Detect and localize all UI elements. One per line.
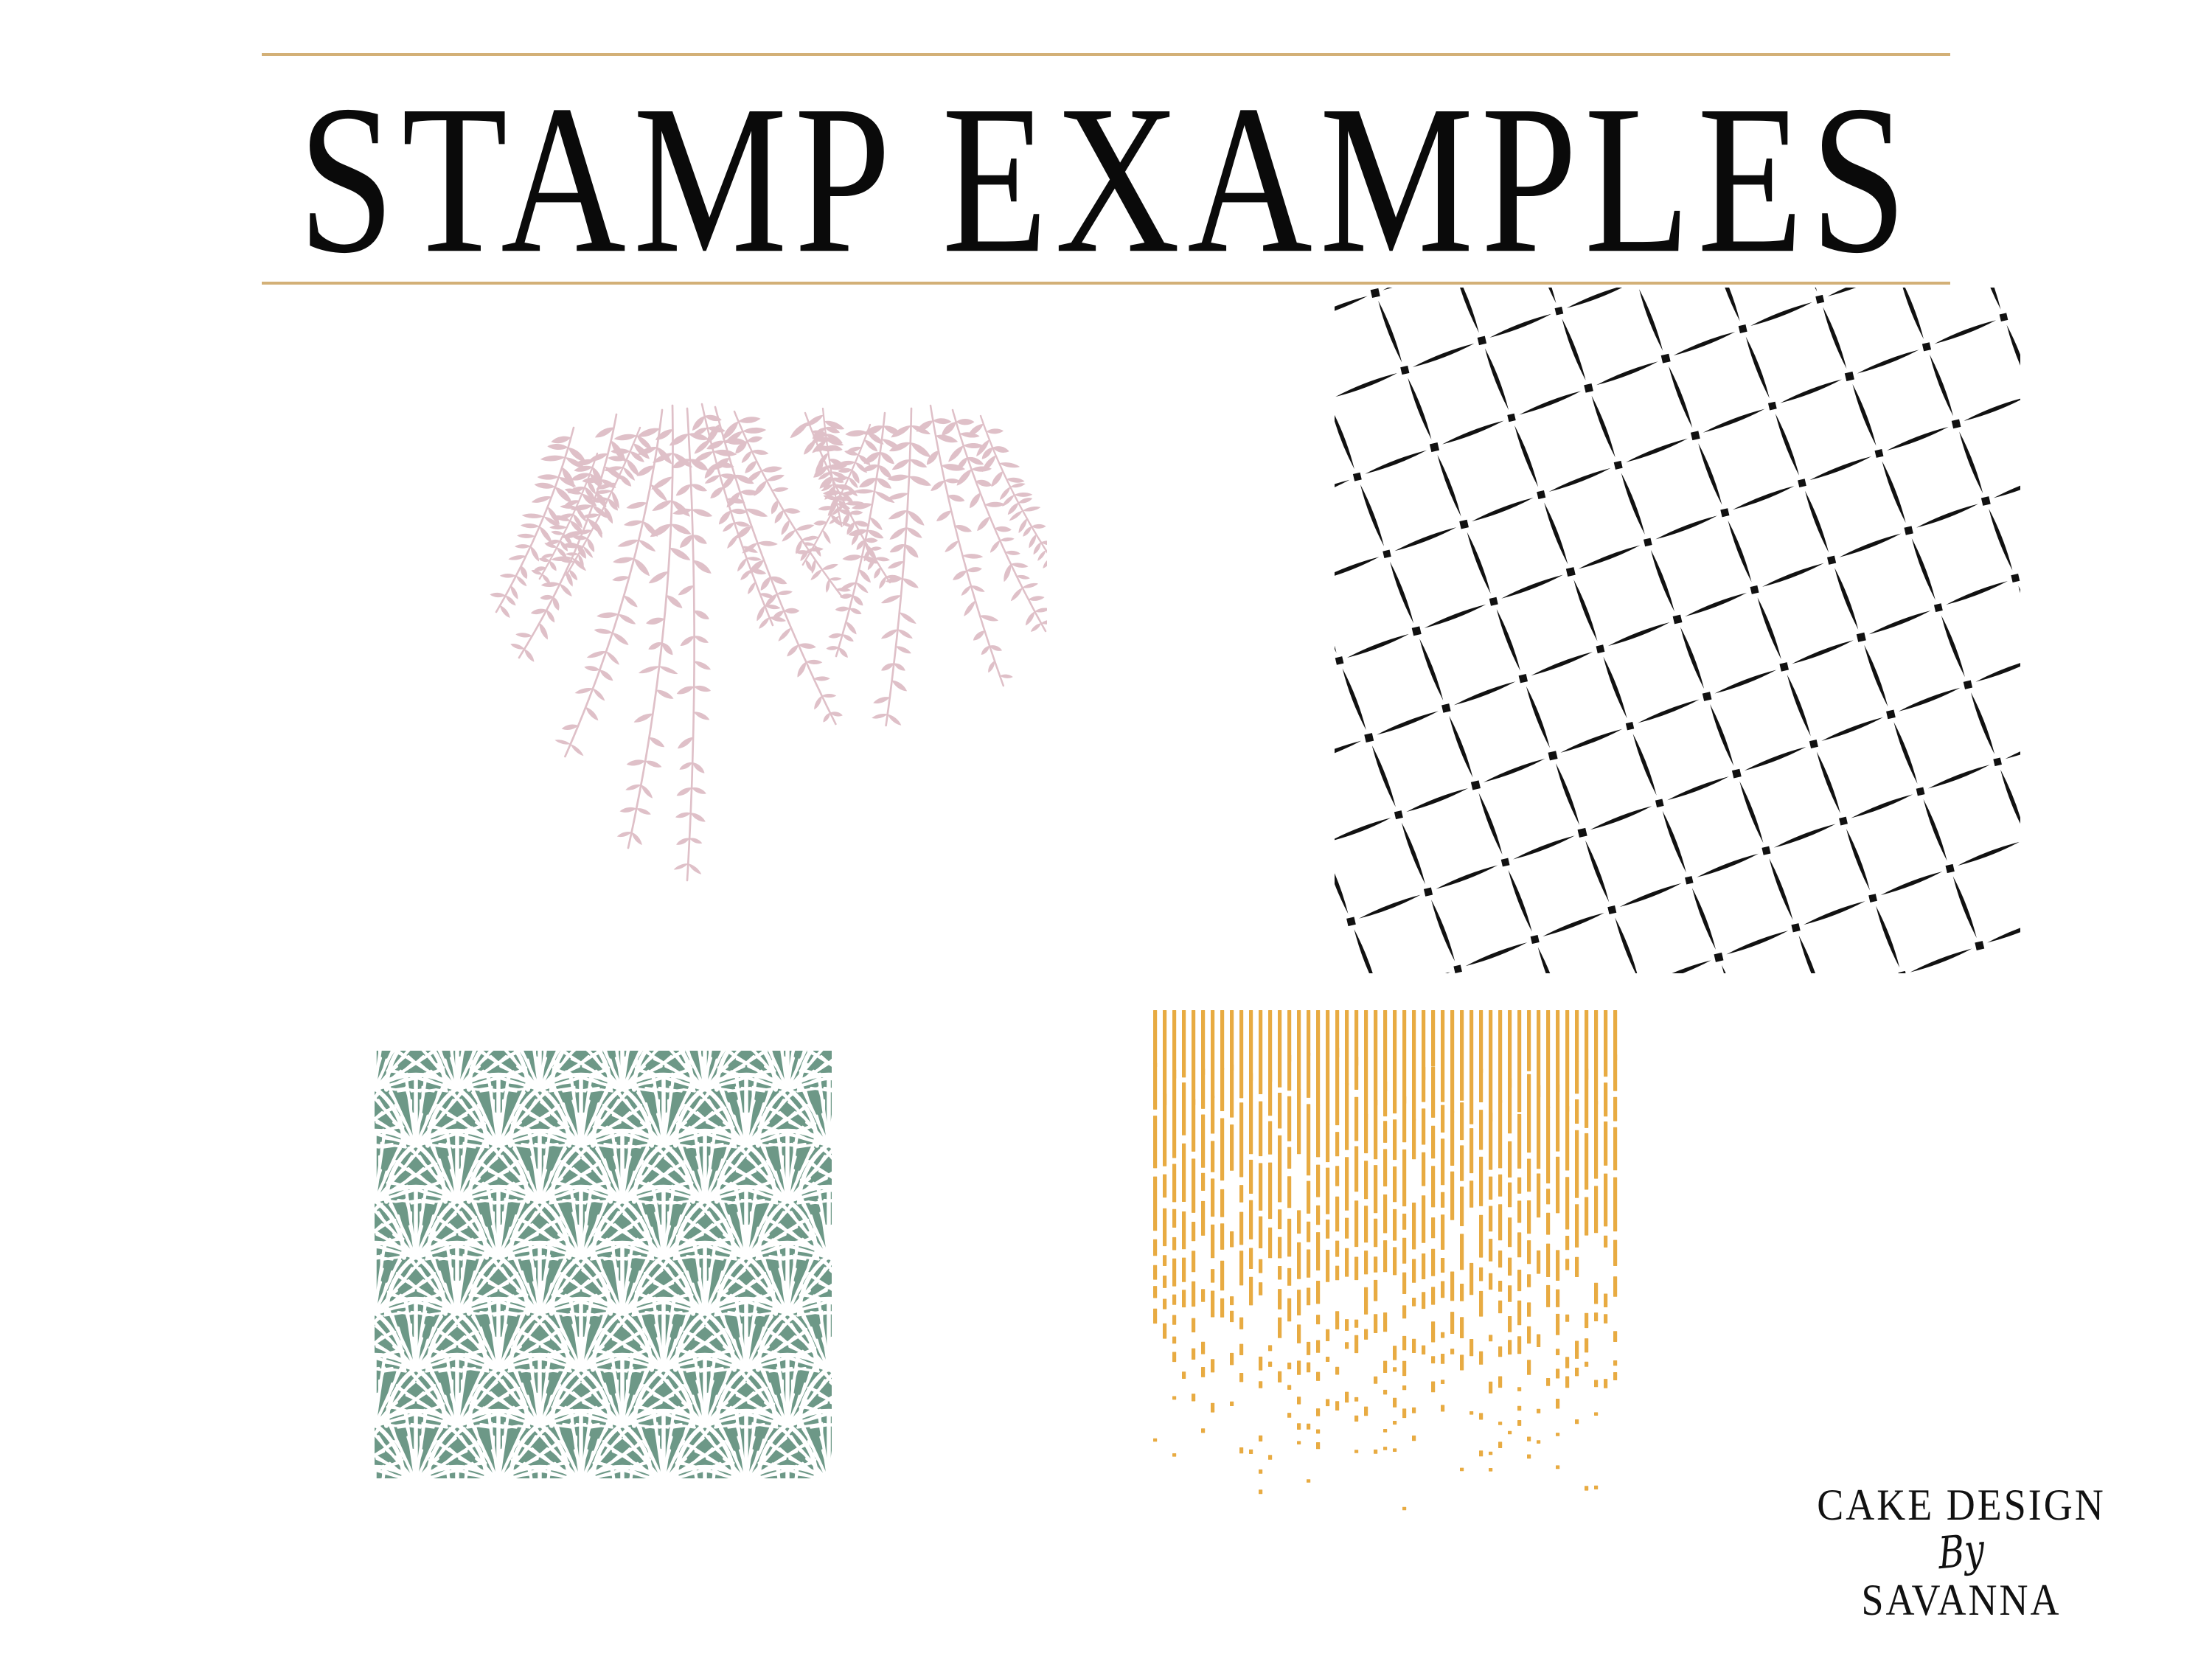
gold-dash-segment <box>1182 1258 1186 1282</box>
lattice-dash <box>1453 288 1481 333</box>
willow-leaf <box>721 521 735 533</box>
willow-leaf <box>632 557 652 578</box>
lattice-dash <box>1394 526 1458 553</box>
lattice-rotation-group <box>1335 288 2020 973</box>
gold-dash-segment <box>1307 1342 1310 1355</box>
gold-dash-segment <box>1613 1240 1617 1266</box>
lattice-node-dot <box>1750 585 1759 594</box>
gold-dash-segment <box>1517 1387 1521 1391</box>
willow-leaf <box>814 676 830 681</box>
lattice-dash <box>1957 840 2020 867</box>
gold-dash-segment <box>1393 1119 1397 1160</box>
gold-dash-segment <box>1565 1236 1569 1250</box>
willow-leaf <box>806 659 822 664</box>
gold-dash-segment <box>1565 1259 1569 1270</box>
gold-dash-segment <box>1546 1213 1550 1235</box>
gold-dash-segment <box>1613 1097 1617 1121</box>
gold-dash-segment <box>1546 1010 1550 1108</box>
gold-dash-segment <box>1316 1165 1320 1197</box>
gold-dash-segment <box>1268 1228 1272 1259</box>
lattice-dash <box>1898 686 1961 713</box>
gold-dash-segment <box>1278 1135 1281 1203</box>
gold-dash-segment <box>1259 1259 1262 1273</box>
lattice-node-dot <box>1614 461 1623 470</box>
lattice-dash <box>1791 639 1854 666</box>
lattice-node-dot <box>1952 420 1961 429</box>
gold-dash-segment <box>1354 1450 1358 1453</box>
gold-dash-segment <box>1201 1010 1205 1075</box>
gold-dash-segment <box>1259 1436 1262 1441</box>
gold-dash-segment <box>1565 1357 1569 1368</box>
willow-leaf <box>784 608 799 613</box>
lattice-dash <box>1607 620 1671 647</box>
gold-dash-segment <box>1249 1010 1253 1081</box>
willow-leaf <box>584 664 600 672</box>
lattice-dash <box>1939 615 1966 678</box>
gold-dash-segment <box>1374 1165 1377 1213</box>
gold-dash-segment <box>1172 1070 1176 1158</box>
willow-leaf <box>822 694 837 698</box>
gold-dash-segment <box>1508 1340 1512 1354</box>
lattice-node-dot <box>1364 733 1374 742</box>
willow-leaf <box>878 450 896 467</box>
gold-dash-segment <box>1441 1105 1444 1133</box>
gold-dash-segment <box>1402 1305 1406 1318</box>
lattice-dash <box>1566 288 1630 310</box>
gold-dash-segment <box>1374 1219 1377 1247</box>
gold-dash-segment <box>1316 1232 1320 1270</box>
gold-dash-segment <box>1287 1176 1291 1208</box>
gold-dash-segment <box>1192 1394 1195 1401</box>
lattice-node-dot <box>1922 342 1931 351</box>
lattice-dash <box>1436 863 1499 891</box>
gold-dash-segment <box>1316 1010 1320 1106</box>
lattice-dash <box>1530 650 1593 678</box>
gold-dash-segment <box>1192 1158 1195 1213</box>
gold-dash-segment <box>1479 1110 1483 1150</box>
gold-dash-segment <box>1201 1173 1205 1191</box>
gold-dash-segment <box>1220 1298 1224 1318</box>
lattice-node-dot <box>1471 780 1481 790</box>
gold-dash-segment <box>1575 1368 1579 1377</box>
gold-dash-segment <box>1354 1200 1358 1247</box>
willow-leaf <box>669 498 692 518</box>
gold-dash-segment <box>1527 1302 1531 1316</box>
lattice-dash <box>1335 739 1362 766</box>
gold-dash-segment <box>1479 1157 1483 1206</box>
lattice-dash <box>1453 680 1517 707</box>
lattice-dash <box>1725 929 1789 956</box>
gold-dash-segment <box>1594 1312 1598 1321</box>
gold-dash-segment <box>1412 1298 1416 1307</box>
gold-dash-segment <box>1479 1291 1483 1317</box>
gold-dash-segment <box>1364 1161 1368 1199</box>
gold-dash-segment <box>1307 1222 1310 1242</box>
gold-dash-segment <box>1517 1301 1521 1325</box>
gold-dash-segment <box>1220 1261 1224 1290</box>
willow-leaf <box>598 668 614 683</box>
willow-leaf <box>788 420 810 440</box>
gold-dash-segment <box>1153 1239 1157 1256</box>
gold-dash-segment <box>1546 1189 1550 1204</box>
lattice-dash <box>1779 378 1843 405</box>
lattice-dash <box>1809 454 1872 481</box>
willow-branches-graphic <box>472 383 1047 914</box>
gold-dash-segment <box>1460 1284 1464 1301</box>
gold-dash-segment <box>1556 1085 1559 1152</box>
gold-dash-segment <box>1345 1342 1349 1349</box>
gold-dash-segment <box>1297 1423 1301 1430</box>
lattice-dash <box>1619 881 1683 908</box>
header-rule-top <box>262 53 1950 56</box>
willow-leaf <box>692 557 714 576</box>
willow-leaf <box>689 811 706 824</box>
willow-leaf <box>742 427 766 434</box>
willow-leaf <box>826 645 838 650</box>
gold-dash-segment <box>1249 1248 1253 1270</box>
gold-dash-segment <box>1259 1010 1262 1094</box>
gold-dash-segment <box>1489 1452 1492 1455</box>
page-title: STAMP EXAMPLES <box>44 71 2168 297</box>
lattice-dash <box>1696 852 1759 879</box>
lattice-dash <box>1975 656 2020 684</box>
willow-stem <box>687 408 695 880</box>
willow-leaf <box>1022 505 1040 512</box>
lattice-dash <box>1803 900 1866 927</box>
gold-dash-segment <box>1422 1108 1425 1144</box>
gold-dash-segment <box>1470 1339 1473 1356</box>
gold-dash-segment <box>1374 1256 1377 1273</box>
lattice-dash <box>1857 348 1920 375</box>
gold-dash-segment <box>1508 1078 1512 1133</box>
willow-leaf <box>986 428 1004 434</box>
lattice-dash <box>1773 822 1837 849</box>
willow-leaf <box>594 627 613 635</box>
willow-leaf <box>626 500 648 510</box>
willow-leaf <box>647 569 670 586</box>
gold-dash-segment <box>1220 1119 1224 1181</box>
gold-dash-segment <box>1172 1295 1176 1305</box>
gold-dash-segment <box>1354 1257 1358 1281</box>
gold-dash-segment <box>1354 1097 1358 1141</box>
willow-leaf <box>1022 582 1039 590</box>
lattice-node-dot <box>1768 402 1777 411</box>
gold-dash-segment <box>1192 1281 1195 1307</box>
gold-dash-segment <box>1470 1128 1473 1173</box>
lattice-dash <box>1969 692 1996 755</box>
lattice-dash <box>1424 602 1487 630</box>
lattice-dash <box>1441 419 1505 446</box>
willow-leaf <box>591 687 606 703</box>
gold-dash-segment <box>1575 1061 1579 1094</box>
gold-dash-segment <box>1211 1010 1214 1099</box>
gold-dash-segment <box>1489 1206 1492 1232</box>
willow-leaf <box>1009 586 1024 602</box>
lattice-dash <box>1500 573 1564 600</box>
gold-dash-segment <box>1470 1263 1473 1295</box>
gold-dash-segment <box>1374 1100 1377 1160</box>
lattice-dash <box>1412 341 1475 369</box>
lattice-dash <box>1767 858 1795 921</box>
willow-leaf <box>858 568 873 585</box>
lattice-dash <box>1933 319 1997 346</box>
gold-dash-segment <box>1527 1455 1531 1459</box>
gold-dash-segment <box>1211 1141 1214 1172</box>
gold-dash-segment <box>1268 1345 1272 1351</box>
gold-dash-segment <box>1211 1225 1214 1259</box>
lattice-dash <box>1844 828 1871 891</box>
lattice-node-dot <box>2011 574 2020 582</box>
gold-dash-segment <box>1575 1204 1579 1248</box>
lattice-node-dot <box>1739 324 1747 333</box>
willow-leaf <box>933 418 952 425</box>
gold-dash-segment <box>1565 1377 1569 1388</box>
lattice-dash <box>1358 893 1422 920</box>
stamp-sample-fans <box>375 1051 832 1478</box>
gold-dash-segment <box>1326 1399 1329 1407</box>
gold-dash-segment <box>1402 1408 1406 1418</box>
lattice-node-dot <box>1478 336 1486 345</box>
gold-dash-segment <box>1412 1119 1416 1159</box>
gold-dash-segment <box>1613 1127 1617 1171</box>
lattice-node-dot <box>1886 709 1896 719</box>
lattice-node-dot <box>1507 414 1515 422</box>
willow-leaf <box>956 419 975 425</box>
gold-dash-segment <box>1575 1341 1579 1359</box>
gold-dash-segment <box>1172 1209 1176 1228</box>
gold-dash-segment <box>1163 1255 1166 1266</box>
willow-leaf <box>611 630 630 647</box>
willow-leaf <box>746 435 763 444</box>
gold-dash-segment <box>1546 1378 1550 1386</box>
gold-dash-segment <box>1527 1010 1531 1071</box>
lattice-node-dot <box>1673 615 1683 625</box>
gold-dash-segment <box>1383 1082 1387 1117</box>
lattice-dash <box>1880 869 1944 897</box>
willow-leaf <box>795 523 815 532</box>
gold-dash-segment <box>1259 1282 1262 1295</box>
willow-leaf <box>515 632 532 638</box>
lattice-dash <box>1714 288 1742 322</box>
lattice-dash <box>1874 905 1902 969</box>
gold-dash-segment <box>1527 1326 1531 1343</box>
lattice-dash <box>1738 781 1765 844</box>
gold-dash-segment <box>1383 1149 1387 1186</box>
gold-dash-segment <box>1316 1430 1320 1434</box>
gold-dash-segment <box>1585 1486 1588 1490</box>
gold-dash-segment <box>1335 1132 1339 1156</box>
gold-dash-segment <box>1287 1268 1291 1286</box>
lattice-dash <box>1714 668 1778 695</box>
lattice-node-dot <box>1555 307 1564 316</box>
gold-dash-segment <box>1153 1286 1157 1298</box>
gold-dash-segment <box>1239 1318 1243 1329</box>
lattice-dash <box>1376 709 1439 737</box>
gold-dash-segment <box>1508 1285 1512 1302</box>
gold-dash-segment <box>1565 1106 1569 1171</box>
gold-dash-segment <box>1307 1053 1310 1098</box>
gold-dash-segment <box>1201 1367 1205 1377</box>
gold-dash-segment <box>1450 1312 1454 1334</box>
gold-dash-segment <box>1383 1447 1387 1450</box>
lattice-dash <box>1666 775 1730 802</box>
gold-dash-segment <box>1307 1363 1310 1373</box>
gold-dash-segment <box>1211 1269 1214 1283</box>
lattice-dash <box>1590 804 1653 832</box>
gold-dash-segment <box>1537 1440 1540 1444</box>
gold-dash-segment <box>1460 1102 1464 1140</box>
gold-dash-segment <box>1182 1371 1186 1379</box>
gold-dash-segment <box>1316 1105 1320 1158</box>
gold-dash-segment <box>1460 1010 1464 1101</box>
gold-dash-segment <box>1354 1335 1358 1353</box>
gold-dash-segment <box>1537 1010 1540 1097</box>
gold-dash-segment <box>1182 1290 1186 1307</box>
willow-leaf <box>740 450 753 465</box>
lattice-node-dot <box>1703 692 1712 701</box>
gold-dash-segment <box>1498 1346 1502 1357</box>
lattice-node-dot <box>1981 496 1991 506</box>
lattice-node-dot <box>1975 941 1984 950</box>
gold-dash-segment <box>1239 1251 1243 1285</box>
lattice-node-dot <box>1720 508 1729 517</box>
stamp-sample-willow <box>472 383 1047 914</box>
lattice-node-dot <box>1441 703 1451 713</box>
gold-dash-segment <box>1297 1089 1301 1155</box>
lattice-dash <box>1708 703 1736 767</box>
gold-dash-segment <box>1479 1267 1483 1281</box>
lattice-dash <box>1697 442 1724 506</box>
gold-dash-segment <box>1460 1354 1464 1370</box>
willow-leaf <box>655 688 675 701</box>
lattice-node-dot <box>1868 894 1877 902</box>
lattice-dash <box>1489 312 1552 339</box>
willow-leaf <box>644 759 663 770</box>
gold-dash-segment <box>1431 1249 1435 1276</box>
gold-dash-segment <box>1259 1489 1262 1494</box>
willow-leaf <box>636 807 652 817</box>
willow-leaf <box>887 508 908 522</box>
gold-dash-segment <box>1604 1314 1607 1324</box>
gold-dash-segment <box>1393 1166 1397 1202</box>
gold-dash-segment <box>1441 1380 1444 1384</box>
gold-dash-segment <box>1402 1385 1406 1390</box>
willow-leaf <box>853 489 874 494</box>
gold-dash-segment <box>1230 1065 1234 1118</box>
willow-leaf <box>679 634 696 648</box>
willow-leaf <box>1015 493 1033 497</box>
gold-dash-segment <box>1374 1450 1377 1454</box>
lattice-node-dot <box>1761 846 1770 855</box>
gold-dash-segment <box>1594 1186 1598 1233</box>
gold-dash-segment <box>1307 1010 1310 1056</box>
willow-leaf <box>690 482 709 494</box>
lattice-node-dot <box>1661 354 1671 364</box>
gold-dash-segment <box>1460 1317 1464 1338</box>
gold-dash-segment <box>1450 1272 1454 1301</box>
lattice-dash <box>1584 840 1611 903</box>
gold-dash-segment <box>1431 1382 1435 1393</box>
gold-dash-segment <box>1239 1102 1243 1177</box>
willow-leaf <box>772 487 789 493</box>
lattice-node-dot <box>1857 633 1866 642</box>
gold-dash-segment <box>1345 1010 1349 1085</box>
lattice-node-dot <box>1424 888 1433 897</box>
gold-dash-segment <box>1498 1100 1502 1169</box>
gold-dash-segment <box>1230 1231 1234 1248</box>
gold-dash-segment <box>1613 1054 1617 1091</box>
gold-dash-segment <box>1402 1273 1406 1294</box>
lattice-dash <box>1785 674 1812 737</box>
lattice-dash <box>1851 383 1878 447</box>
gold-dash-segment <box>1575 1010 1579 1062</box>
gold-dash-segment <box>1278 1266 1281 1280</box>
lattice-dash <box>1418 638 1445 701</box>
gold-dash-segment <box>1316 1372 1320 1381</box>
lattice-node-dot <box>1607 905 1616 914</box>
gold-dash-segment <box>1613 1276 1617 1297</box>
willow-leaf <box>905 525 923 540</box>
gold-dash-segment <box>1287 1385 1291 1390</box>
lattice-dash <box>1803 490 1830 554</box>
willow-leaf <box>584 706 600 723</box>
willow-leaf <box>929 479 946 493</box>
willow-leaf <box>490 592 506 597</box>
gold-dash-segment <box>1585 1133 1588 1190</box>
lattice-dash <box>1863 644 1890 708</box>
gold-dash-segment <box>1354 1147 1358 1192</box>
gold-dash-segment <box>1278 1289 1281 1310</box>
willow-leaf <box>837 646 849 659</box>
lattice-dash <box>1927 354 1955 417</box>
gold-dash-segment <box>1326 1329 1329 1341</box>
lattice-dash <box>1477 792 1504 855</box>
gold-dash-segment <box>1297 1397 1301 1404</box>
lattice-dash <box>1690 887 1717 950</box>
willow-leaf <box>901 576 919 590</box>
gold-dash-segment <box>1460 1234 1464 1270</box>
gold-dash-segment <box>1460 1186 1464 1226</box>
gold-dash-segment <box>1297 1290 1301 1315</box>
gold-dash-segment <box>1402 1096 1406 1143</box>
willow-leaf <box>691 507 713 518</box>
logo-line-savanna: SAVANNA <box>1770 1573 2153 1627</box>
willow-leaf <box>639 783 654 799</box>
willow-leaf <box>689 836 703 845</box>
gold-dash-segment <box>1498 1204 1502 1240</box>
lattice-node-dot <box>1501 858 1510 867</box>
willow-leaf <box>1032 524 1046 529</box>
gold-dash-segment <box>1259 1470 1262 1474</box>
lattice-dash <box>1999 769 2020 832</box>
gold-dash-segment <box>1383 1390 1387 1395</box>
gold-dash-segment <box>1441 1281 1444 1298</box>
gold-dash-segment <box>1201 1068 1205 1109</box>
gold-dash-segment <box>1201 1289 1205 1301</box>
willow-leaf <box>500 574 516 578</box>
willow-leaf <box>898 611 917 626</box>
gold-dash-segment <box>1220 1189 1224 1217</box>
gold-dash-segment <box>1335 1367 1339 1375</box>
gold-dash-segment <box>1517 1232 1521 1257</box>
willow-leaf <box>691 785 707 796</box>
willow-leaf <box>905 508 926 527</box>
willow-leaf <box>566 552 579 555</box>
willow-leaf <box>630 831 644 846</box>
gold-dash-segment <box>1172 1010 1176 1079</box>
gold-dash-segment <box>1393 1367 1397 1371</box>
lattice-dash <box>1964 395 2020 422</box>
